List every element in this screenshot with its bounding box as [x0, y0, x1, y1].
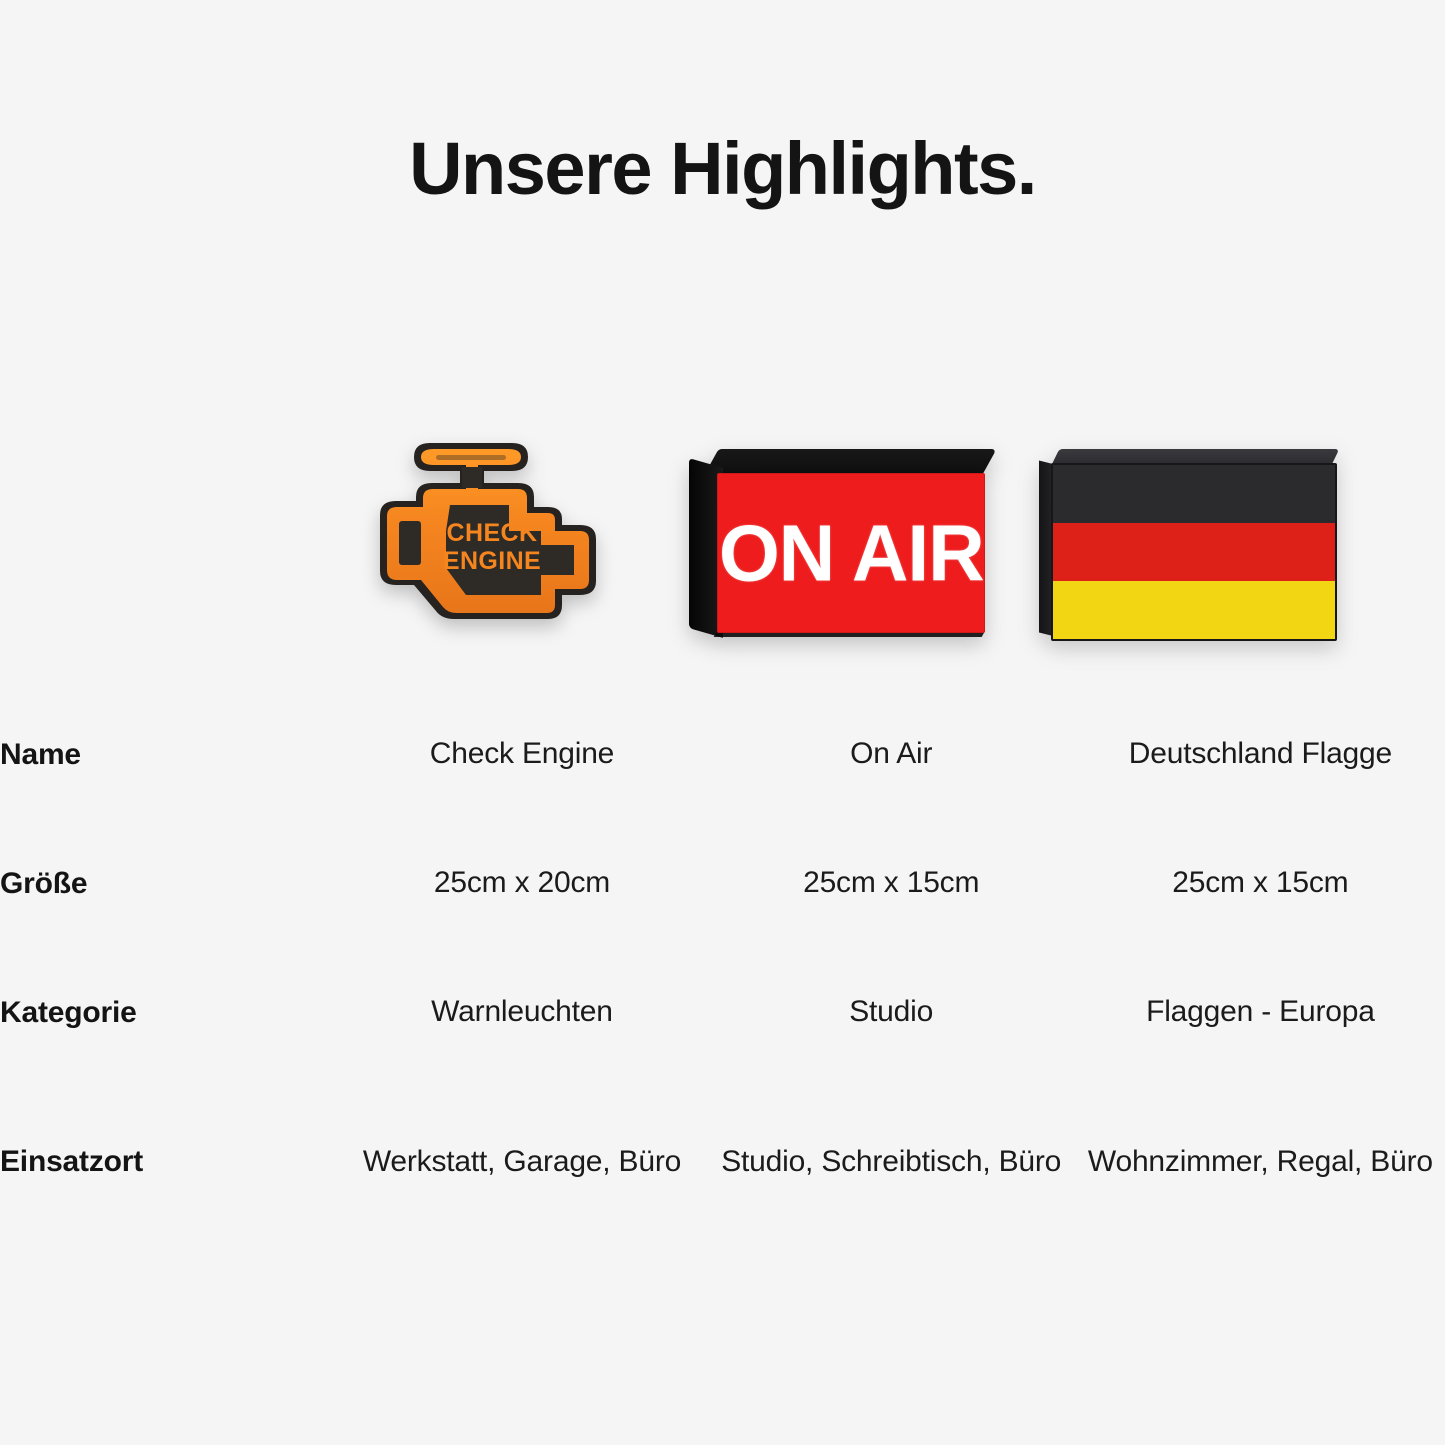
flag-band-black [1053, 465, 1335, 523]
product-image-on-air[interactable]: ON AIR [666, 400, 1014, 670]
table-row-kategorie: Kategorie Warnleuchten Studio Flaggen - … [0, 948, 1445, 1077]
cell-einsatzort-deutschland-flagge: Wohnzimmer, Regal, Büro [1076, 1077, 1445, 1247]
cell-kategorie-check-engine: Warnleuchten [337, 948, 706, 1077]
cell-groesse-deutschland-flagge: 25cm x 15cm [1076, 819, 1445, 948]
cell-name-check-engine: Check Engine [337, 690, 706, 819]
cell-name-on-air: On Air [707, 690, 1076, 819]
on-air-box-front-face: ON AIR [717, 473, 985, 633]
flag-band-red [1053, 523, 1335, 581]
check-engine-shape [342, 435, 642, 660]
product-image-deutschland-flagge[interactable] [1014, 400, 1362, 670]
highlights-page: Unsere Highlights. [0, 0, 1445, 1445]
cell-groesse-check-engine: 25cm x 20cm [337, 819, 706, 948]
row-label-name: Name [0, 690, 337, 819]
on-air-text: ON AIR [719, 513, 984, 593]
check-engine-lamp-icon[interactable]: CHECK ENGINE [342, 435, 642, 660]
flag-band-gold [1053, 581, 1335, 639]
table-row-groesse: Größe 25cm x 20cm 25cm x 15cm 25cm x 15c… [0, 819, 1445, 948]
germany-flag-lightbox-icon[interactable] [1033, 441, 1343, 656]
cell-kategorie-on-air: Studio [707, 948, 1076, 1077]
on-air-lightbox-icon[interactable]: ON AIR [685, 443, 995, 658]
table-row-einsatzort: Einsatzort Werkstatt, Garage, Büro Studi… [0, 1077, 1445, 1247]
product-image-row: CHECK ENGINE ON AIR [0, 400, 1445, 670]
page-title: Unsere Highlights. [0, 128, 1445, 209]
row-label-einsatzort: Einsatzort [0, 1077, 337, 1247]
row-label-groesse: Größe [0, 819, 337, 948]
product-image-check-engine[interactable]: CHECK ENGINE [318, 400, 666, 670]
cell-einsatzort-on-air: Studio, Schreibtisch, Büro [707, 1077, 1076, 1247]
spec-comparison-table: Name Check Engine On Air Deutschland Fla… [0, 690, 1445, 1247]
cell-groesse-on-air: 25cm x 15cm [707, 819, 1076, 948]
flag-box-front-face [1051, 463, 1337, 641]
cell-einsatzort-check-engine: Werkstatt, Garage, Büro [337, 1077, 706, 1247]
row-label-kategorie: Kategorie [0, 948, 337, 1077]
table-row-name: Name Check Engine On Air Deutschland Fla… [0, 690, 1445, 819]
cell-name-deutschland-flagge: Deutschland Flagge [1076, 690, 1445, 819]
cell-kategorie-deutschland-flagge: Flaggen - Europa [1076, 948, 1445, 1077]
